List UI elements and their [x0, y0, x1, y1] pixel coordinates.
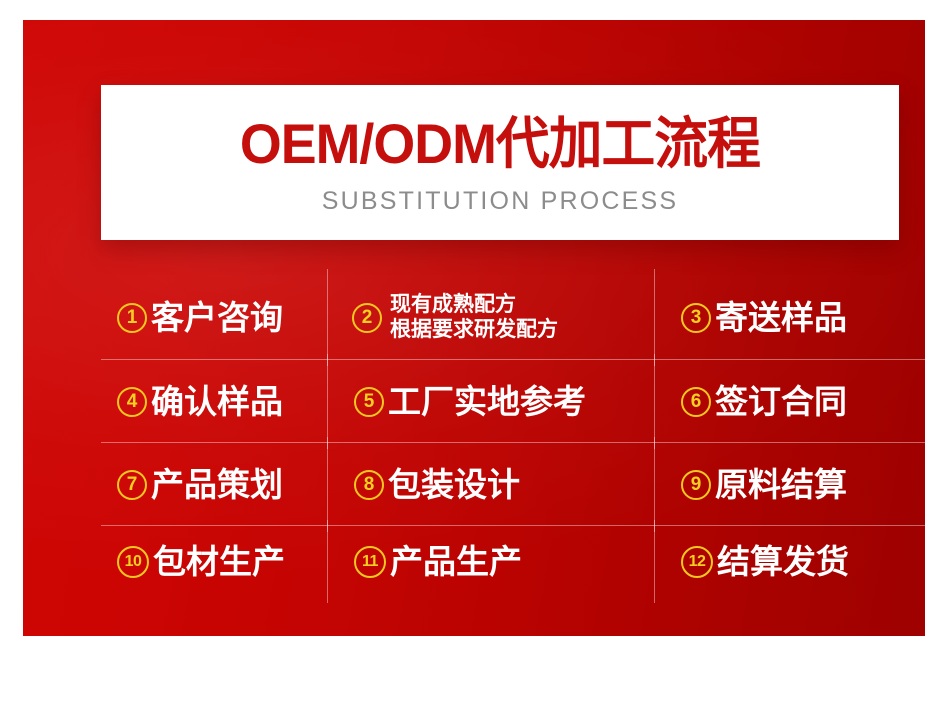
step-number-badge: 3 — [681, 303, 711, 333]
red-background-panel: OEM/ODM代加工流程 SUBSTITUTION PROCESS 1 客户咨询… — [23, 20, 925, 636]
step-label: 包装设计 — [388, 467, 520, 503]
step-label-line-2: 根据要求研发配方 — [390, 318, 558, 343]
step-number-badge: 7 — [117, 470, 147, 500]
step-number-badge: 9 — [681, 470, 711, 500]
step-label: 签订合同 — [715, 384, 847, 420]
process-step-11[interactable]: 11 产品生产 — [328, 526, 655, 597]
step-number-badge: 4 — [117, 387, 147, 417]
title-card: OEM/ODM代加工流程 SUBSTITUTION PROCESS — [101, 85, 899, 240]
step-label: 产品策划 — [151, 467, 283, 503]
step-label: 包材生产 — [153, 544, 285, 580]
step-number-badge: 8 — [354, 470, 384, 500]
process-step-8[interactable]: 8 包装设计 — [328, 443, 655, 526]
step-label: 产品生产 — [390, 544, 522, 580]
process-step-12[interactable]: 12 结算发货 — [655, 526, 948, 597]
step-label: 原料结算 — [715, 467, 847, 503]
step-label: 寄送样品 — [715, 300, 847, 336]
step-label: 结算发货 — [717, 544, 849, 580]
page-subtitle: SUBSTITUTION PROCESS — [322, 187, 679, 216]
poster-canvas: OEM/ODM代加工流程 SUBSTITUTION PROCESS 1 客户咨询… — [0, 0, 948, 704]
step-number-badge: 1 — [117, 303, 147, 333]
step-number-badge: 5 — [354, 387, 384, 417]
step-number-badge: 12 — [681, 546, 713, 578]
step-number-badge: 2 — [352, 303, 382, 333]
process-step-5[interactable]: 5 工厂实地参考 — [328, 360, 655, 443]
process-step-2[interactable]: 2 现有成熟配方 根据要求研发配方 — [328, 275, 655, 360]
step-label-line-1: 现有成熟配方 — [390, 293, 558, 318]
step-number-badge: 10 — [117, 546, 149, 578]
page-title: OEM/ODM代加工流程 — [240, 116, 760, 172]
step-label: 现有成熟配方 根据要求研发配方 — [386, 293, 558, 343]
process-step-10[interactable]: 10 包材生产 — [101, 526, 328, 597]
step-number-badge: 6 — [681, 387, 711, 417]
step-label: 工厂实地参考 — [388, 384, 586, 420]
process-step-7[interactable]: 7 产品策划 — [101, 443, 328, 526]
process-step-4[interactable]: 4 确认样品 — [101, 360, 328, 443]
step-label: 客户咨询 — [151, 300, 283, 336]
process-step-1[interactable]: 1 客户咨询 — [101, 275, 328, 360]
step-number-badge: 11 — [354, 546, 386, 578]
process-step-9[interactable]: 9 原料结算 — [655, 443, 948, 526]
step-label: 确认样品 — [151, 384, 283, 420]
process-step-6[interactable]: 6 签订合同 — [655, 360, 948, 443]
process-step-3[interactable]: 3 寄送样品 — [655, 275, 948, 360]
process-grid: 1 客户咨询 2 现有成熟配方 根据要求研发配方 3 寄送样品 4 确认样品 — [101, 275, 948, 597]
